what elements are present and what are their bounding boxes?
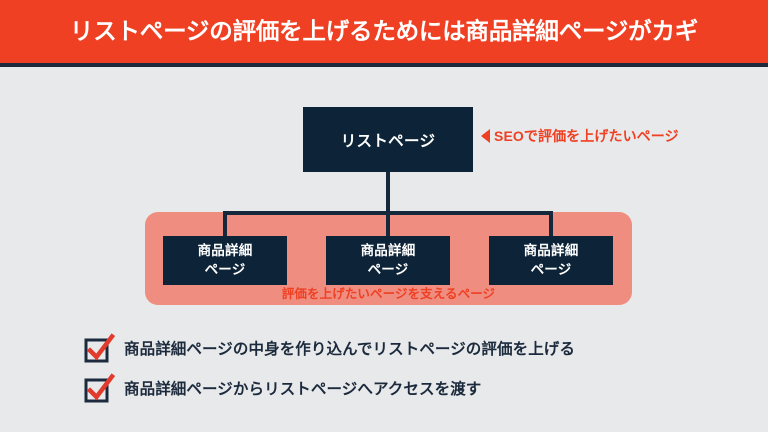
- node-line-2: ページ: [368, 262, 409, 277]
- node-line-2: ページ: [205, 262, 246, 277]
- header-bar: リストページの評価を上げるためには商品詳細ページがカギ: [0, 0, 768, 63]
- seo-callout-label: SEOで評価を上げたいページ: [494, 129, 679, 143]
- page-title: リストページの評価を上げるためには商品詳細ページがカギ: [70, 20, 698, 44]
- node-product-detail-2: 商品詳細 ページ: [326, 236, 450, 285]
- connector-root-stem: [386, 172, 390, 215]
- seo-callout: SEOで評価を上げたいページ: [481, 129, 679, 143]
- node-line-2: ページ: [531, 262, 572, 277]
- checkbox-checked-icon: [84, 337, 111, 364]
- checklist-item-2: 商品詳細ページからリストページへアクセスを渡す: [84, 370, 684, 410]
- node-product-detail-3: 商品詳細 ページ: [489, 236, 613, 285]
- group-caption: 評価を上げたいページを支えるページ: [145, 288, 632, 301]
- triangle-left-icon: [481, 129, 490, 143]
- node-line-1: 商品詳細: [198, 243, 253, 258]
- node-product-detail-2-label: 商品詳細 ページ: [361, 242, 416, 278]
- node-list-page-label: リストページ: [341, 129, 436, 151]
- node-line-1: 商品詳細: [524, 243, 579, 258]
- checklist-item-2-label: 商品詳細ページからリストページへアクセスを渡す: [124, 382, 481, 398]
- connector-drop-3: [549, 211, 553, 238]
- node-product-detail-1: 商品詳細 ページ: [163, 236, 287, 285]
- connector-drop-2: [386, 211, 390, 238]
- checklist-item-1-label: 商品詳細ページの中身を作り込んでリストページの評価を上げる: [124, 342, 575, 358]
- node-line-1: 商品詳細: [361, 243, 416, 258]
- slide-canvas: リストページの評価を上げるためには商品詳細ページがカギ リストページ SEOで評…: [0, 0, 768, 432]
- node-product-detail-3-label: 商品詳細 ページ: [524, 242, 579, 278]
- checklist: 商品詳細ページの中身を作り込んでリストページの評価を上げる 商品詳細ページからリ…: [84, 330, 684, 410]
- checkbox-checked-icon: [84, 377, 111, 404]
- node-list-page: リストページ: [303, 107, 473, 172]
- node-product-detail-1-label: 商品詳細 ページ: [198, 242, 253, 278]
- connector-drop-1: [223, 211, 227, 238]
- checklist-item-1: 商品詳細ページの中身を作り込んでリストページの評価を上げる: [84, 330, 684, 370]
